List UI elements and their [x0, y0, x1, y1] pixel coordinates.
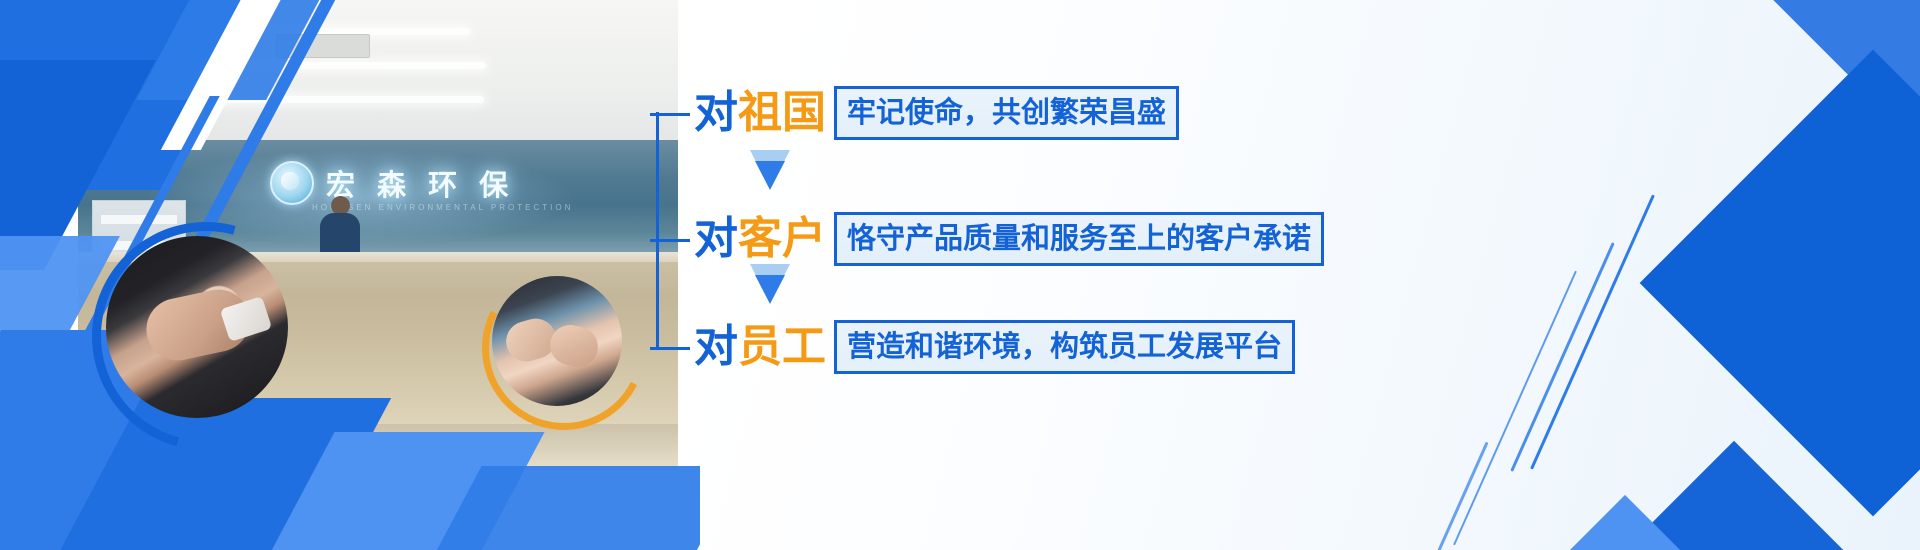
office-photo-collage: 宏 森 环 保 HONGSEN ENVIRONMENTAL PROTECTION — [0, 0, 700, 550]
bracket-stub — [650, 239, 690, 242]
values-list: 对祖国 牢记使命，共创繁荣昌盛 对客户 恪守产品质量和服务至上的客户承诺 对员工… — [650, 0, 1410, 550]
bracket-stub — [650, 113, 690, 116]
value-heading: 对祖国 — [694, 91, 826, 135]
diagonal-accent-line — [1530, 194, 1655, 469]
value-heading-prefix: 对 — [694, 87, 738, 138]
diagonal-accent-line — [1510, 242, 1614, 472]
decorative-shapes — [1360, 0, 1920, 550]
down-arrow-icon — [748, 264, 792, 304]
value-slogan: 恪守产品质量和服务至上的客户承诺 — [834, 212, 1324, 266]
company-values-banner: 宏 森 环 保 HONGSEN ENVIRONMENTAL PROTECTION — [0, 0, 1920, 550]
value-heading-prefix: 对 — [694, 321, 738, 372]
value-row: 对客户 恪守产品质量和服务至上的客户承诺 — [650, 212, 1324, 266]
value-heading-key: 祖国 — [738, 87, 826, 138]
bracket-stub — [650, 347, 690, 350]
blue-diamond-shape — [1519, 495, 1731, 550]
value-heading: 对客户 — [694, 217, 826, 261]
value-slogan: 牢记使命，共创繁荣昌盛 — [834, 86, 1179, 140]
down-arrow-icon — [748, 150, 792, 190]
diagonal-accent-line — [1408, 442, 1488, 550]
value-heading-key: 客户 — [738, 213, 826, 264]
value-row: 对员工 营造和谐环境，构筑员工发展平台 — [650, 320, 1295, 374]
blue-diamond-shape — [1640, 50, 1920, 517]
diagonal-accent-line — [1453, 271, 1577, 546]
value-heading-key: 员工 — [738, 321, 826, 372]
value-slogan: 营造和谐环境，构筑员工发展平台 — [834, 320, 1295, 374]
globe-leaf-icon — [270, 161, 314, 205]
value-heading-prefix: 对 — [694, 213, 738, 264]
value-heading: 对员工 — [694, 325, 826, 369]
value-row: 对祖国 牢记使命，共创繁荣昌盛 — [650, 86, 1179, 140]
blue-diamond-shape — [1607, 441, 1862, 550]
blue-diamond-shape — [1768, 0, 1920, 172]
